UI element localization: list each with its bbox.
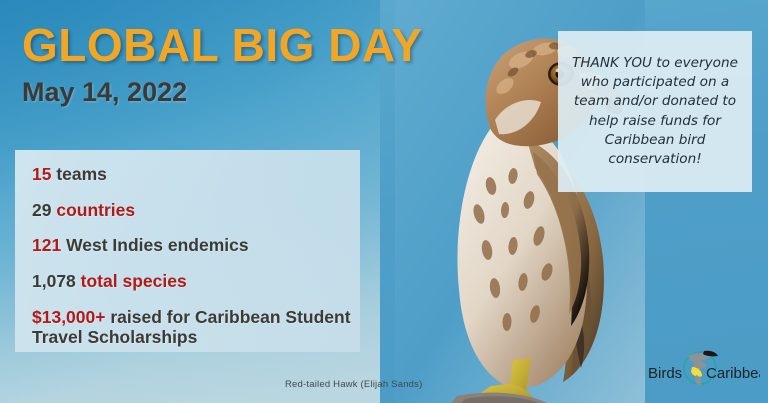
- stat-label: total species: [76, 271, 187, 291]
- logo-word-caribbean: Caribbean: [706, 365, 760, 382]
- logo-word-birds: Birds: [648, 365, 682, 382]
- page-title: GLOBAL BIG DAY: [22, 22, 423, 68]
- stat-row: 1,078 total species: [32, 271, 360, 292]
- stat-number: $13,000+: [32, 307, 105, 327]
- stat-row: $13,000+ raised for Caribbean Student Tr…: [32, 307, 360, 348]
- stat-number: 1,078: [32, 271, 76, 291]
- birds-caribbean-logo[interactable]: Birds Caribbean: [648, 348, 760, 394]
- title-block: GLOBAL BIG DAY May 14, 2022: [22, 22, 423, 106]
- stat-label: teams: [51, 164, 106, 184]
- thank-you-panel: THANK YOU to everyone who participated o…: [558, 31, 752, 192]
- photo-credit: Red-tailed Hawk (Elijah Sands): [285, 379, 422, 390]
- event-date: May 14, 2022: [22, 79, 423, 106]
- stat-row: 15 teams: [32, 164, 360, 185]
- stat-row: 121 West Indies endemics: [32, 235, 360, 256]
- statistics-panel: 15 teams29 countries121 West Indies ende…: [15, 150, 360, 352]
- thank-you-text: THANK YOU to everyone who participated o…: [568, 54, 742, 170]
- stat-label: countries: [51, 200, 135, 220]
- stat-label: West Indies endemics: [61, 235, 248, 255]
- stat-row: 29 countries: [32, 200, 360, 221]
- stat-number: 15: [32, 164, 51, 184]
- global-big-day-poster: GLOBAL BIG DAY May 14, 2022 15 teams29 c…: [0, 0, 768, 403]
- stat-number: 29: [32, 200, 51, 220]
- stat-number: 121: [32, 235, 61, 255]
